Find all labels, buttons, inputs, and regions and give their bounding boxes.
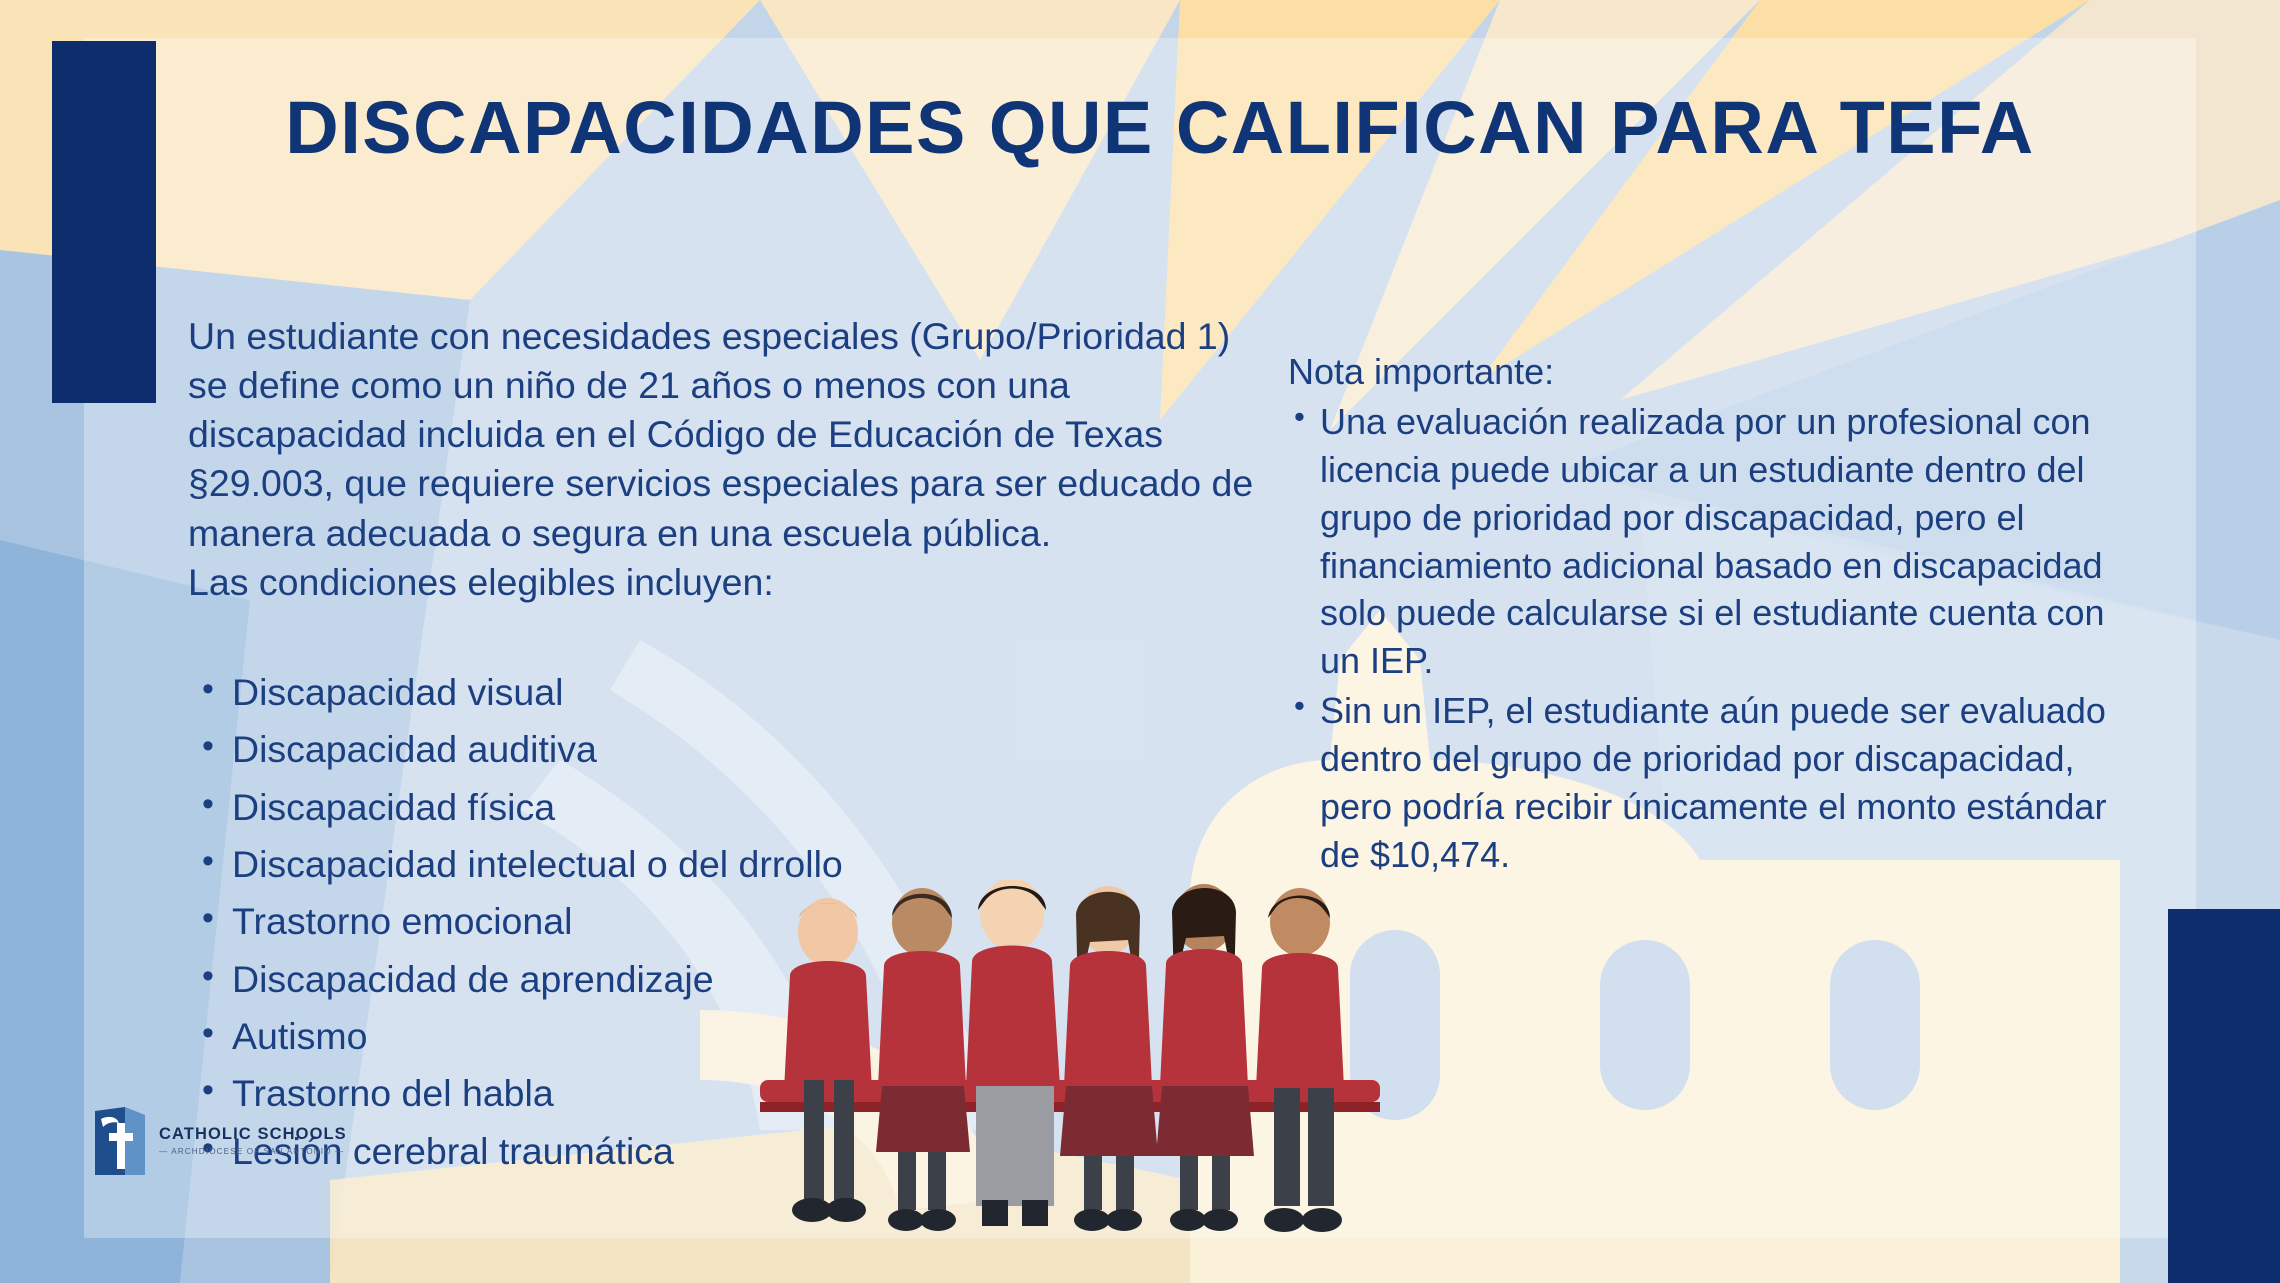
list-item: Discapacidad auditiva [188, 724, 1258, 775]
slide-canvas: DISCAPACIDADES QUE CALIFICAN PARA TEFA U… [0, 0, 2280, 1283]
right-accent-bar [2168, 909, 2280, 1283]
slide-title: DISCAPACIDADES QUE CALIFICAN PARA TEFA [180, 82, 2140, 175]
students-photo [760, 880, 1400, 1283]
list-item: Una evaluación realizada por un profesio… [1288, 398, 2118, 685]
definition-paragraph: Un estudiante con necesidades especiales… [188, 312, 1258, 558]
cross-dove-icon [95, 1107, 149, 1175]
important-note-list: Una evaluación realizada por un profesio… [1288, 398, 2118, 879]
left-accent-bar [52, 41, 156, 403]
conditions-lead-in: Las condiciones elegibles incluyen: [188, 558, 1258, 607]
logo-text: CATHOLIC SCHOOLS — ARCHDIOCESE OF SAN AN… [159, 1126, 347, 1157]
important-note-heading: Nota importante: [1288, 348, 2118, 396]
logo-subtitle: — ARCHDIOCESE OF SAN ANTONIO — [159, 1147, 347, 1156]
catholic-schools-logo: CATHOLIC SCHOOLS — ARCHDIOCESE OF SAN AN… [95, 1105, 355, 1177]
right-text-column: Nota importante: Una evaluación realizad… [1288, 348, 2118, 881]
list-item: Discapacidad visual [188, 667, 1258, 718]
list-item: Discapacidad física [188, 782, 1258, 833]
list-item: Sin un IEP, el estudiante aún puede ser … [1288, 687, 2118, 879]
logo-title: CATHOLIC SCHOOLS [159, 1126, 347, 1143]
